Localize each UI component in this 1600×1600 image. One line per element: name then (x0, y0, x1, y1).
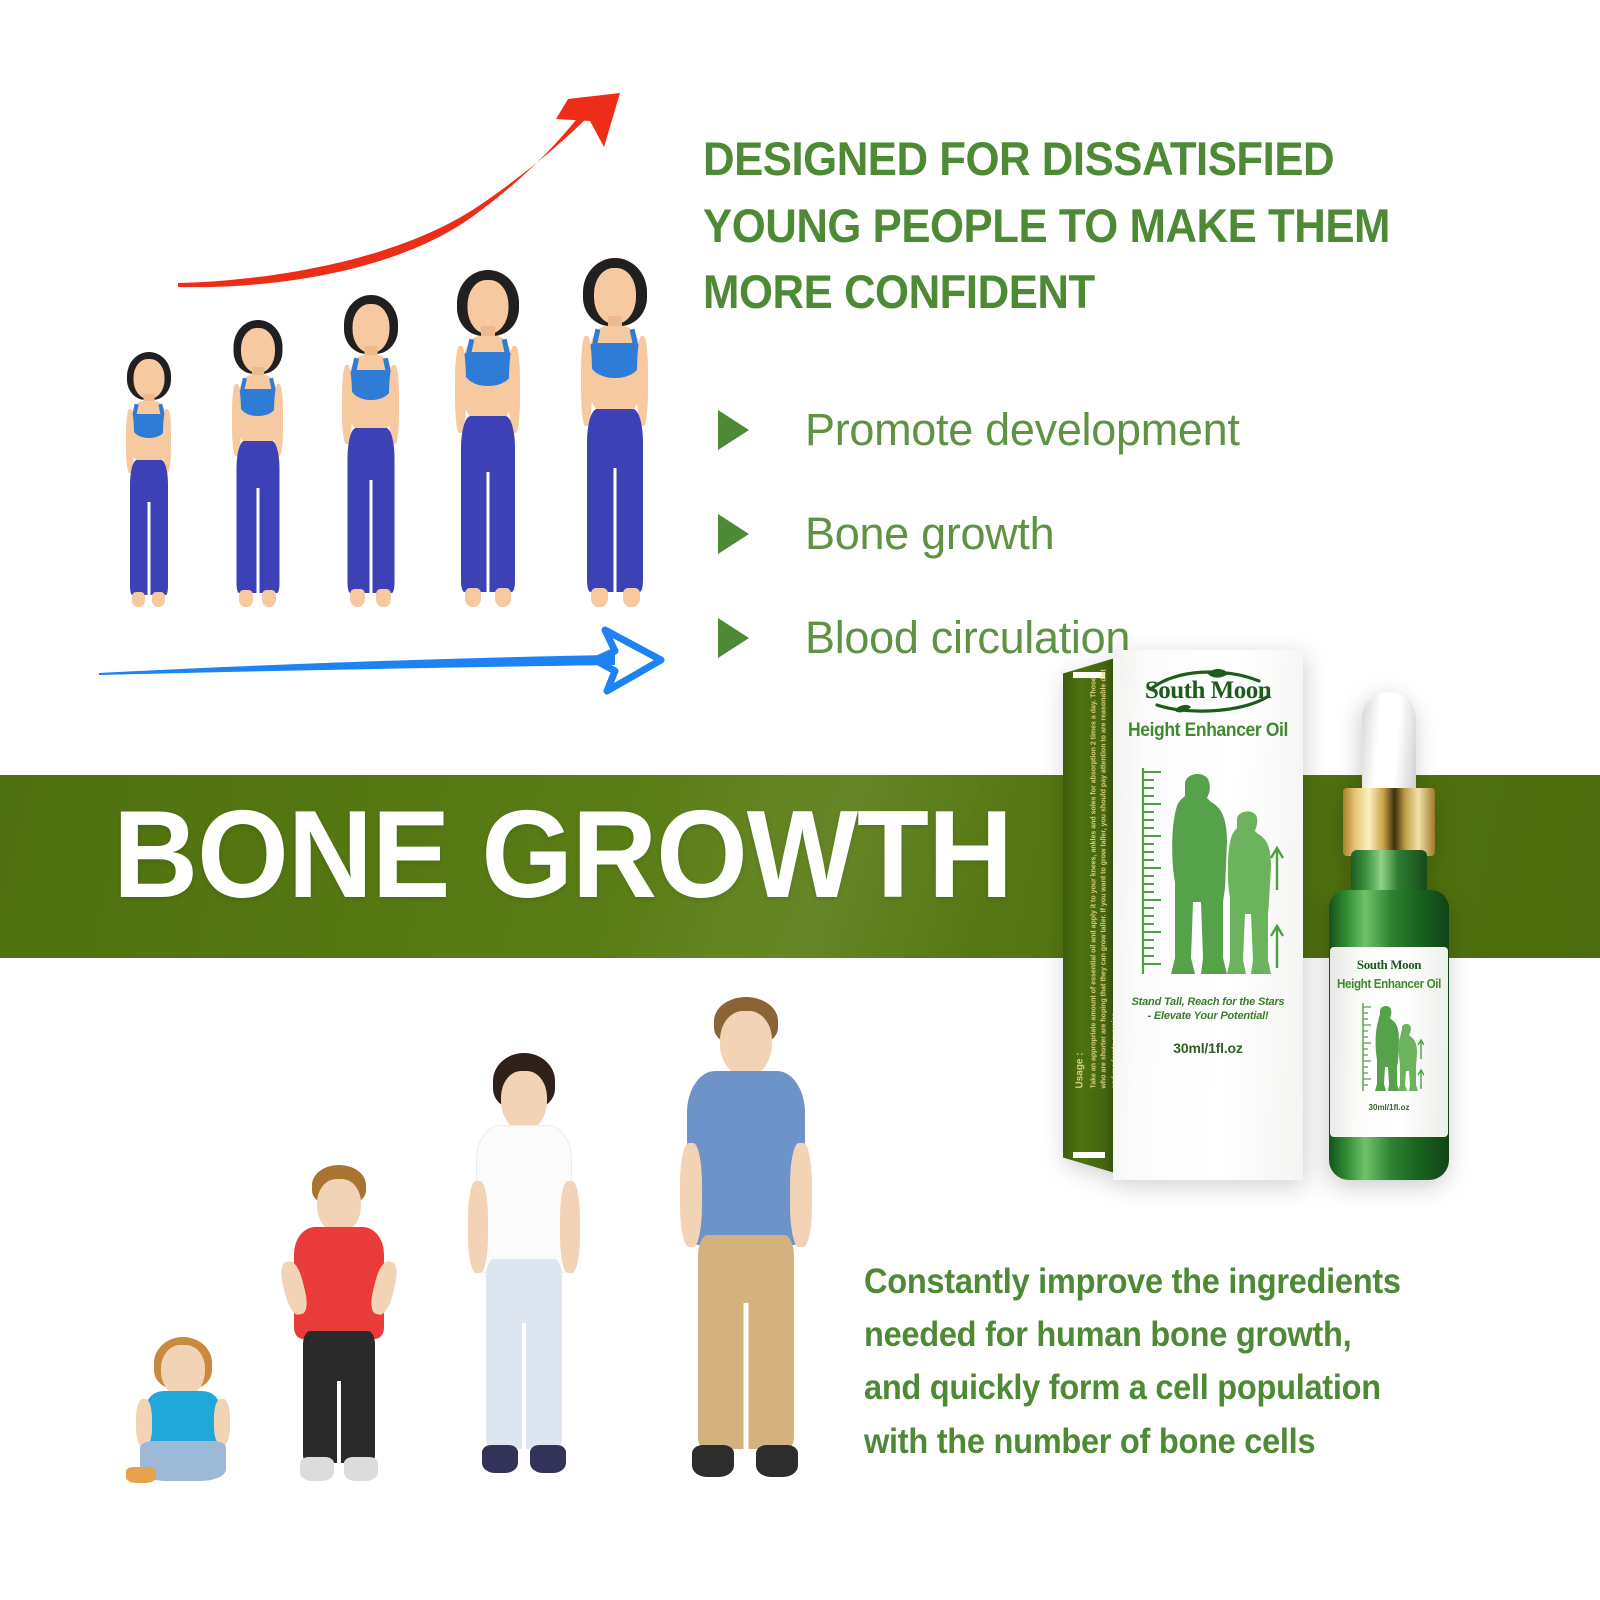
young-man-arm-left (680, 1143, 702, 1247)
woman-figure-4 (438, 270, 538, 610)
teen-head (501, 1071, 547, 1131)
bottle-label: South Moon Height Enhancer Oil (1330, 947, 1448, 1137)
male-figure-boy (278, 1165, 400, 1485)
play-triangle-icon (718, 410, 749, 450)
product-bottle: South Moon Height Enhancer Oil (1318, 692, 1460, 1180)
woman-figure-1 (113, 352, 185, 610)
benefit-label: Promote development (805, 404, 1240, 456)
bottom-copy-line-2: needed for human bone growth, (864, 1308, 1515, 1361)
dropper-bulb (1362, 692, 1416, 800)
advertisement-canvas: DESIGNED FOR DISSATISFIED YOUNG PEOPLE T… (0, 0, 1600, 1600)
box-notch-bottom (1073, 1152, 1105, 1158)
blue-baseline-arrow (95, 595, 695, 705)
toddler-arm-right (214, 1399, 230, 1445)
bottom-description: Constantly improve the ingredients neede… (864, 1255, 1515, 1468)
young-man-leg-split (744, 1303, 749, 1449)
male-figure-teen (458, 1053, 590, 1485)
box-tagline: Stand Tall, Reach for the Stars - Elevat… (1121, 996, 1295, 1024)
usage-heading: Usage : (1072, 669, 1088, 1089)
bottom-copy-line-4: with the number of bone cells (864, 1415, 1515, 1468)
box-product-name: Height Enhancer Oil (1121, 720, 1296, 742)
box-volume: 30ml/1fl.oz (1113, 1040, 1303, 1056)
woman-figure-3 (327, 295, 415, 610)
headline-line-2: YOUNG PEOPLE TO MAKE THEM (703, 193, 1438, 260)
woman-figure-2 (218, 320, 298, 610)
young-man-shoe-left (692, 1445, 734, 1477)
bottle-height-illustration (1356, 999, 1424, 1095)
young-man-shirt (687, 1071, 805, 1245)
young-man-shoe-right (756, 1445, 798, 1477)
gold-collar-cap (1343, 788, 1435, 856)
bottle-brand-name: South Moon (1330, 957, 1448, 973)
benefit-item-bone-growth: Bone growth (718, 482, 1418, 586)
page-title: DESIGNED FOR DISSATISFIED YOUNG PEOPLE T… (703, 126, 1438, 326)
bottle-volume: 30ml/1fl.oz (1330, 1103, 1448, 1112)
teen-arm-left (468, 1181, 488, 1273)
male-figure-toddler (124, 1337, 242, 1485)
box-tagline-line-2: - Elevate Your Potential! (1121, 1010, 1295, 1024)
box-brand-logo: South Moon (1113, 677, 1303, 705)
female-growth-figures (105, 255, 675, 610)
boy-shirt (294, 1227, 384, 1339)
boy-head (317, 1179, 361, 1233)
box-height-illustration (1127, 762, 1289, 984)
box-brand-name: South Moon (1145, 677, 1271, 705)
young-man-head (720, 1011, 772, 1077)
teen-shoe-left (482, 1445, 518, 1473)
boy-shoe-right (344, 1457, 378, 1481)
play-triangle-icon (718, 514, 749, 554)
benefits-list: Promote development Bone growth Blood ci… (718, 378, 1418, 690)
boy-shoe-left (300, 1457, 334, 1481)
banner-title: BONE GROWTH (113, 793, 1012, 917)
product-box: Usage : Take an appropriate amount of es… (1063, 650, 1303, 1180)
teen-shoe-right (530, 1445, 566, 1473)
benefit-item-promote-development: Promote development (718, 378, 1418, 482)
teen-shirt (476, 1125, 572, 1273)
male-figure-young-man (666, 997, 826, 1485)
teen-leg-split (522, 1323, 526, 1449)
headline-line-1: DESIGNED FOR DISSATISFIED (703, 126, 1438, 193)
male-growth-figures (110, 985, 870, 1485)
toddler-arm-left (136, 1399, 152, 1447)
toddler-head (161, 1345, 205, 1397)
boy-leg-split (337, 1381, 341, 1463)
product-box-side-panel: Usage : Take an appropriate amount of es… (1063, 658, 1115, 1173)
woman-figure-5 (563, 258, 667, 610)
bottle-product-name: Height Enhancer Oil (1334, 977, 1444, 991)
teen-arm-right (560, 1181, 580, 1273)
bottom-copy-line-3: and quickly form a cell population (864, 1361, 1515, 1414)
headline-line-3: MORE CONFIDENT (703, 259, 1438, 326)
product-box-front-panel: South Moon Height Enhancer Oil (1113, 650, 1303, 1180)
toddler-shoe-left (126, 1467, 156, 1483)
benefit-label: Bone growth (805, 508, 1054, 560)
box-tagline-line-1: Stand Tall, Reach for the Stars (1121, 996, 1295, 1010)
bottom-copy-line-1: Constantly improve the ingredients (864, 1255, 1515, 1308)
young-man-arm-right (790, 1143, 812, 1247)
play-triangle-icon (718, 618, 749, 658)
